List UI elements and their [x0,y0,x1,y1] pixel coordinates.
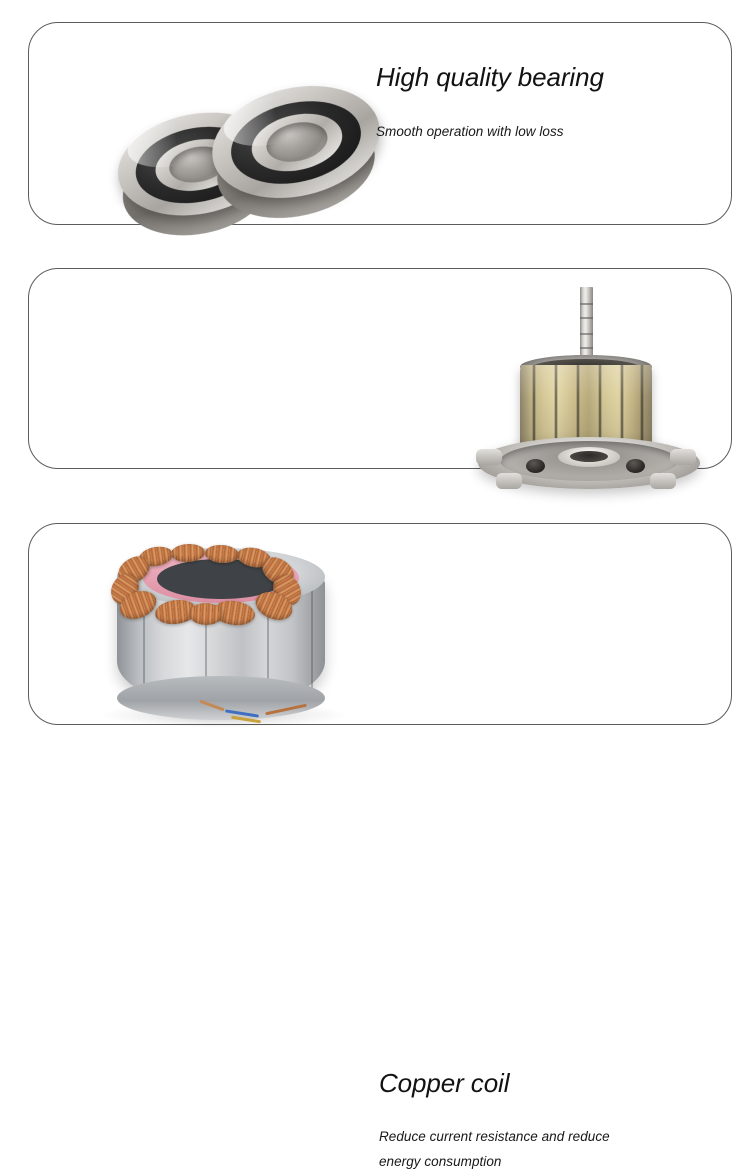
shaft-band [580,333,593,335]
coil-subtitle-line-2: energy consumption [379,1150,610,1175]
bearing-subtitle: Smooth operation with low loss [376,120,604,145]
feature-card-copper-coil[interactable]: Copper coil Reduce current resistance an… [28,523,732,725]
coil-subtitle: Reduce current resistance and reduce ene… [379,1125,610,1175]
copper-coil [189,603,223,626]
bracket-mounting-boss [670,449,696,465]
stator-copper-coil-photo [79,526,369,731]
bearing-title: High quality bearing [376,63,604,92]
coil-text-block: Copper coil Reduce current resistance an… [379,1069,610,1175]
feature-card-rotor[interactable]: High precision rotor SEfficient and ener… [28,268,732,469]
bracket-mounting-boss [476,449,502,465]
bearing-text-block: High quality bearing Smooth operation wi… [376,63,604,145]
rotor-shaft [580,287,593,359]
bearing-right [211,88,381,196]
shaft-band [580,347,593,349]
coil-subtitle-line-1: Reduce current resistance and reduce [379,1125,610,1150]
feature-card-bearing[interactable]: High quality bearing Smooth operation wi… [28,22,732,225]
motor-rotor-photo [474,277,704,472]
bracket-mounting-boss [650,473,676,489]
ball-bearings-photo [89,58,359,218]
shaft-band [580,303,593,305]
bracket-rubber-bumper [526,459,545,473]
shaft-band [580,317,593,319]
coil-title: Copper coil [379,1069,610,1098]
rotor-hub-center [570,451,608,462]
stator-bottom-edge [117,676,325,720]
bracket-mounting-boss [496,473,522,489]
bracket-rubber-bumper [626,459,645,473]
product-feature-page: High quality bearing Smooth operation wi… [0,0,750,751]
